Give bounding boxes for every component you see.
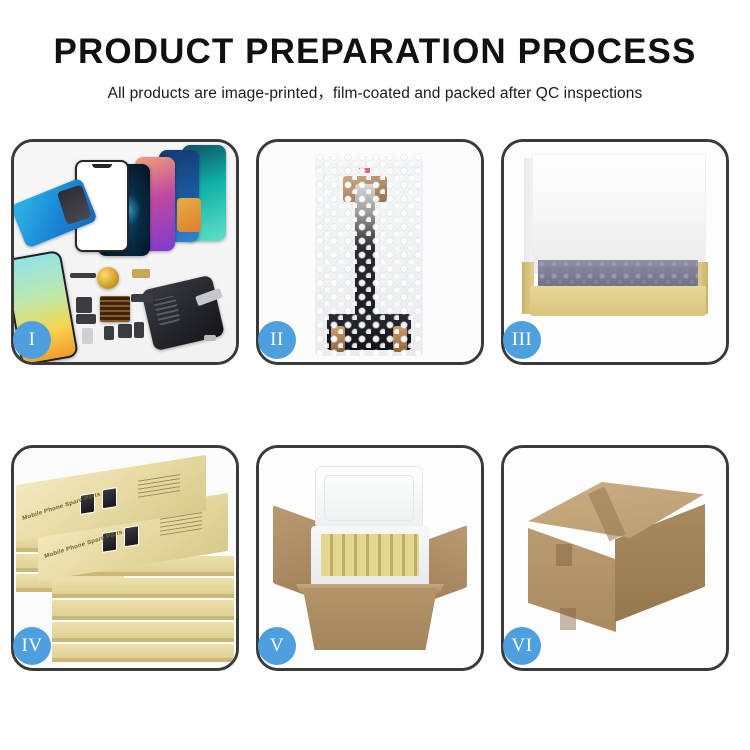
lid-phone-icon-b	[124, 525, 139, 547]
process-step-panel-5[interactable]: V	[256, 445, 484, 671]
process-step-panel-3[interactable]: III	[501, 139, 729, 365]
process-step-panel-4[interactable]: Mobile Phone Spare Parts Mobile Phone Sp…	[11, 445, 239, 671]
page-title: PRODUCT PREPARATION PROCESS	[0, 34, 750, 71]
foam-box-lid	[315, 466, 423, 530]
process-step-grid: I II	[11, 139, 739, 671]
gold-tray-front	[530, 286, 706, 316]
stacked-box	[52, 622, 234, 642]
page-subtitle: All products are image-printed，film-coat…	[0, 81, 750, 103]
small-part-d	[118, 324, 132, 338]
step-badge-6: VI	[503, 627, 541, 665]
step-badge-1: I	[13, 321, 51, 359]
process-step-panel-1[interactable]: I	[11, 139, 239, 365]
gold-coil-part	[97, 267, 119, 289]
page-header: PRODUCT PREPARATION PROCESS All products…	[0, 0, 750, 103]
packed-gold-boxes	[321, 534, 419, 576]
small-part-a	[76, 297, 92, 313]
foam-padding	[538, 260, 698, 288]
button-part	[132, 269, 150, 278]
stacked-box	[52, 578, 234, 598]
stacked-box	[52, 644, 234, 662]
small-part-f	[82, 328, 93, 344]
lid-phone-icon-d	[102, 487, 117, 509]
screw-part	[204, 335, 216, 341]
process-step-panel-6[interactable]: VI	[501, 445, 729, 671]
step-badge-2: II	[258, 321, 296, 359]
bubble-wrap-bag	[315, 152, 423, 356]
box-lid-open	[532, 154, 706, 274]
carton-tab-upper	[556, 544, 572, 566]
flex-cable-part	[70, 273, 96, 278]
carton-front	[297, 588, 443, 650]
process-step-panel-2[interactable]: II	[256, 139, 484, 365]
step-badge-3: III	[503, 321, 541, 359]
small-part-e	[134, 322, 144, 338]
step-badge-4: IV	[13, 627, 51, 665]
chip-grid-part	[100, 296, 130, 322]
carton-tab-lower	[560, 608, 576, 630]
lid-spec-lines	[138, 471, 180, 498]
small-part-g	[131, 294, 153, 302]
step-badge-5: V	[258, 627, 296, 665]
stacked-box	[52, 600, 234, 620]
small-part-c	[104, 326, 114, 340]
bubble-texture	[315, 152, 423, 356]
small-part-b	[76, 314, 96, 324]
